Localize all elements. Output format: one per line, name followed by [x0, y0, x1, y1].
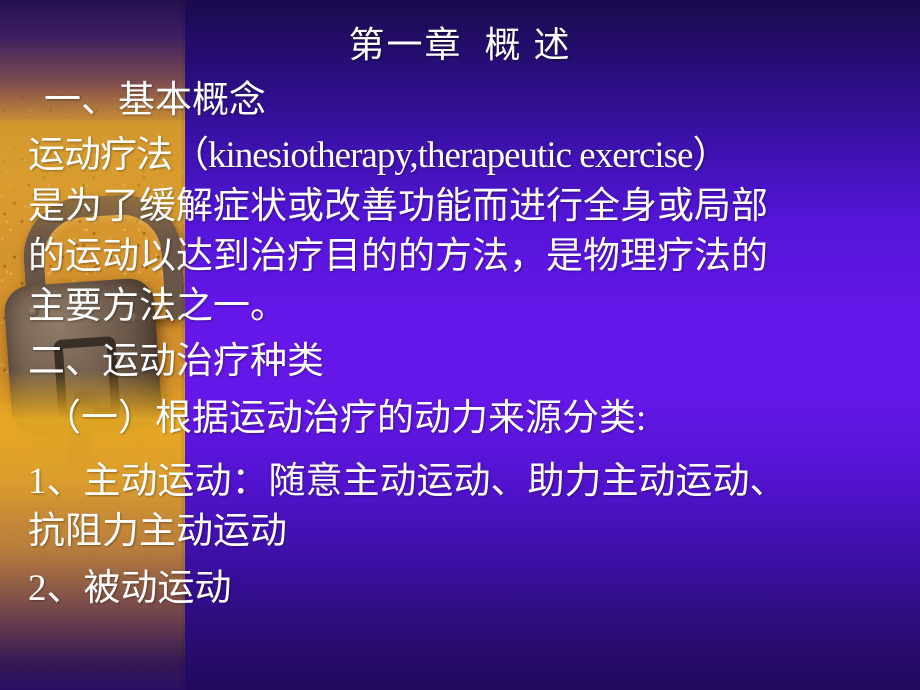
- body-line-3: 是为了缓解症状或改善功能而进行全身或局部: [28, 188, 768, 225]
- slide-text-layer: 第一章 概 述 一、基本概念 运动疗法（kinesiotherapy,thera…: [0, 0, 920, 690]
- body-line-2: 运动疗法（kinesiotherapy,therapeutic exercise…: [28, 137, 728, 174]
- body-line-6: 二、运动治疗种类: [28, 343, 324, 380]
- body-line-10: 2、被动运动: [28, 570, 232, 607]
- body-line-1: 一、基本概念: [44, 82, 266, 119]
- body-line-5: 主要方法之一。: [28, 288, 287, 325]
- body-line-7: （一）根据运动治疗的动力来源分类:: [44, 400, 646, 437]
- presentation-slide: 第一章 概 述 一、基本概念 运动疗法（kinesiotherapy,thera…: [0, 0, 920, 690]
- body-line-8: 1、主动运动：随意主动运动、助力主动运动、: [28, 463, 787, 500]
- body-line-9: 抗阻力主动运动: [28, 513, 287, 550]
- slide-title: 第一章 概 述: [0, 16, 920, 68]
- body-line-4: 的运动以达到治疗目的的方法，是物理疗法的: [28, 238, 768, 275]
